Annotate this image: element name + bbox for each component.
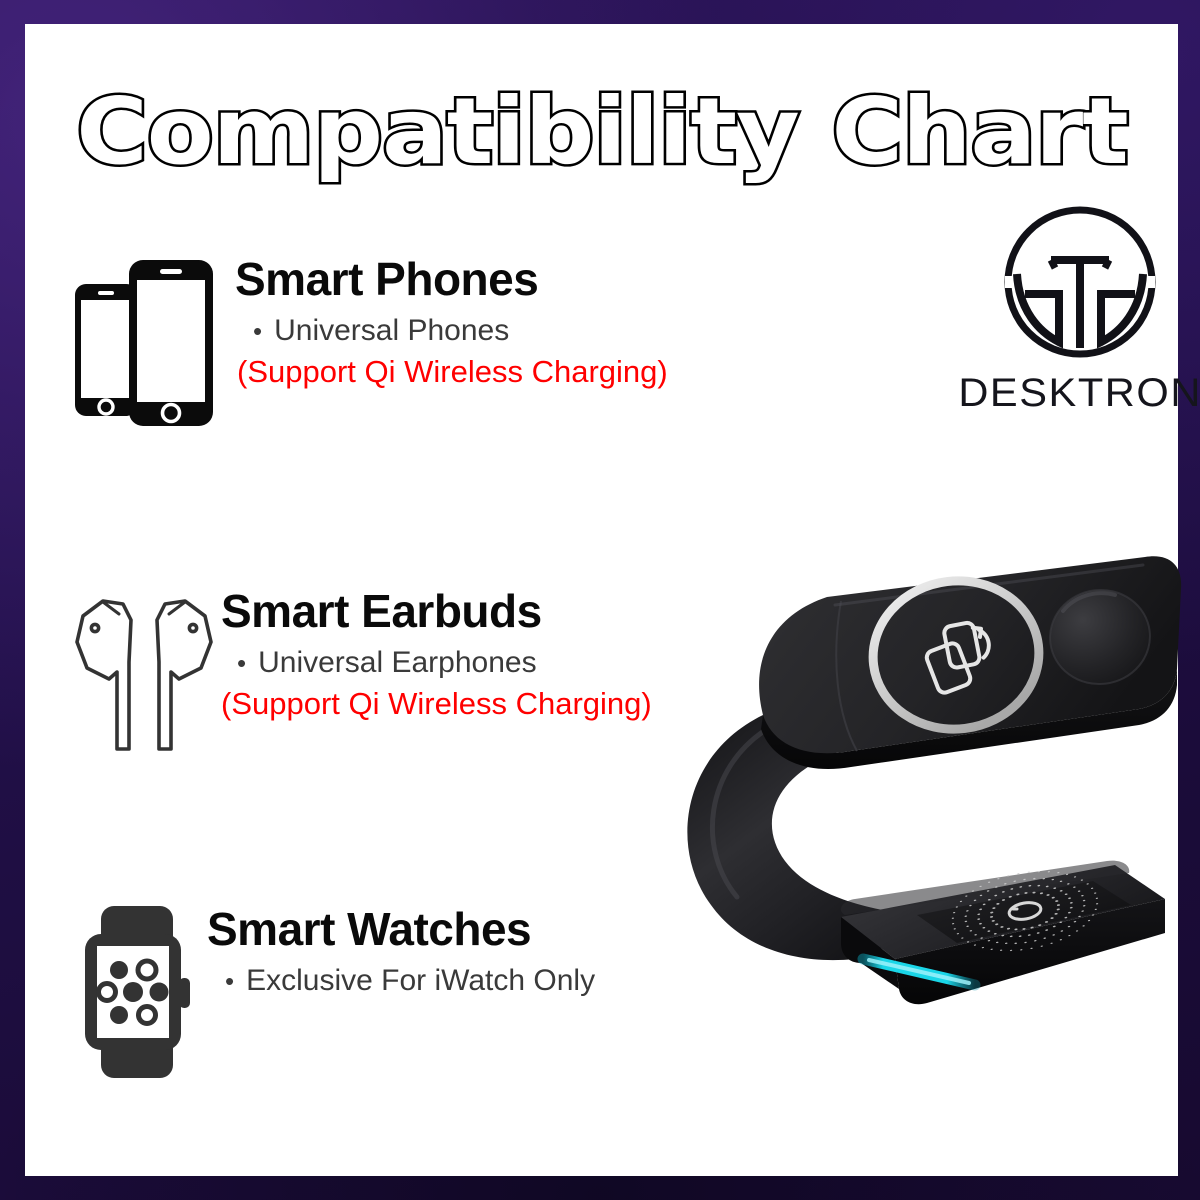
smartwatch-icon: [77, 902, 207, 1082]
section-note: (Support Qi Wireless Charging): [221, 686, 652, 722]
page-title-wrap: Compatibility Chart: [25, 86, 1178, 178]
smartphones-icon: [71, 252, 231, 432]
section-bullet: • Exclusive For iWatch Only: [225, 964, 595, 998]
section-bullet: • Universal Earphones: [237, 646, 652, 680]
section-title: Smart Earbuds: [221, 588, 652, 634]
section-bullet-label: Exclusive For iWatch Only: [246, 964, 595, 998]
section-smart-watches: Smart Watches • Exclusive For iWatch Onl…: [77, 902, 595, 1082]
desktron-circle-monogram-logo: [981, 202, 1179, 367]
earbuds-icon: [69, 584, 219, 769]
bullet-glyph: •: [225, 968, 234, 994]
section-smart-earbuds: Smart Earbuds • Universal Earphones (Sup…: [69, 584, 652, 769]
content-card: Compatibility Chart Smart Phones • Unive…: [25, 24, 1178, 1176]
section-bullet-label: Universal Phones: [274, 314, 509, 348]
bullet-glyph: •: [253, 318, 262, 344]
section-title: Smart Watches: [207, 906, 595, 952]
product-image-charging-stand: [645, 519, 1190, 1019]
section-note: (Support Qi Wireless Charging): [237, 354, 668, 390]
brand-wordmark: DESKTRON: [958, 371, 1200, 416]
section-text-smart-watches: Smart Watches • Exclusive For iWatch Onl…: [207, 902, 595, 998]
section-bullet-label: Universal Earphones: [258, 646, 536, 680]
section-text-smart-earbuds: Smart Earbuds • Universal Earphones (Sup…: [219, 584, 652, 722]
section-title: Smart Phones: [235, 256, 668, 302]
section-text-smart-phones: Smart Phones • Universal Phones (Support…: [231, 252, 668, 390]
brand-logo: DESKTRON: [955, 202, 1200, 422]
section-smart-phones: Smart Phones • Universal Phones (Support…: [71, 252, 668, 432]
page-title: Compatibility Chart: [76, 86, 1127, 178]
section-bullet: • Universal Phones: [253, 314, 668, 348]
bullet-glyph: •: [237, 650, 246, 676]
